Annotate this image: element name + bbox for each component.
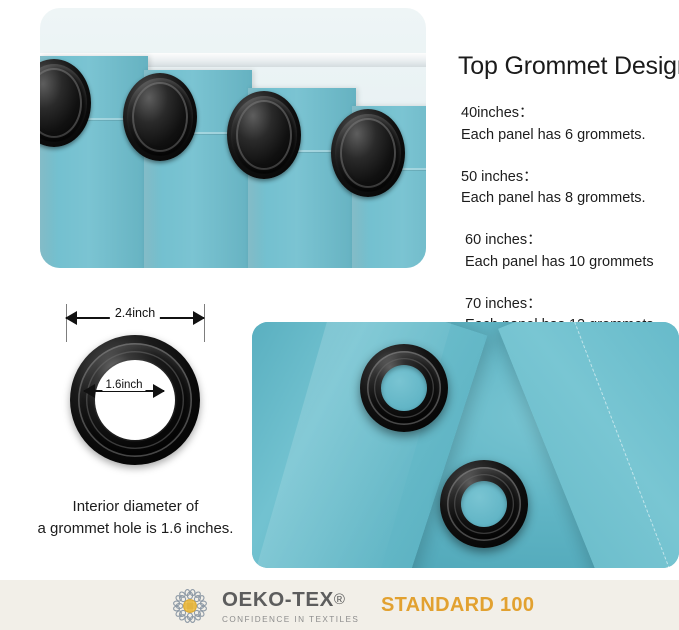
oeko-tex-brand: OEKO-TEX® [222, 590, 359, 611]
grommet-caption: Interior diameter of a grommet hole is 1… [28, 496, 243, 540]
spec-size-label: 40inches： [461, 103, 679, 125]
oeko-tex-wordmark: OEKO-TEX® CONFIDENCE IN TEXTILES [222, 590, 359, 624]
spec-count-label: Each panel has 8 grommets. [461, 188, 679, 210]
arrow-left-icon [65, 311, 77, 325]
product-infographic: Top Grommet Design 40inches： Each panel … [0, 0, 679, 630]
grommet-dimension-diagram: 2.4inch 1.6inch Interior diameter of a g… [28, 300, 228, 500]
inner-diameter-label: 1.6inch [102, 379, 145, 391]
spec-count-label: Each panel has 10 grommets [465, 252, 679, 274]
arrow-right-icon [193, 311, 205, 325]
spec-size-label: 50 inches： [461, 167, 679, 189]
fabric-closeup-photo [252, 322, 679, 568]
spec-60inch: 60 inches： Each panel has 10 grommets [465, 230, 679, 274]
caption-line-1: Interior diameter of [28, 496, 243, 518]
arrow-right-icon [153, 384, 165, 398]
page-title: Top Grommet Design [458, 52, 679, 81]
grommet-closeup [360, 344, 448, 432]
spec-50inch: 50 inches： Each panel has 8 grommets. [461, 167, 679, 211]
grommet-closeup [440, 460, 528, 548]
inner-diameter-dimension: 1.6inch [84, 381, 164, 399]
oeko-tex-tagline: CONFIDENCE IN TEXTILES [222, 615, 359, 624]
caption-line-2: a grommet hole is 1.6 inches. [28, 518, 243, 540]
grommet-spec-text: Top Grommet Design 40inches： Each panel … [461, 52, 679, 357]
spec-40inch: 40inches： Each panel has 6 grommets. [461, 103, 679, 147]
arrow-left-icon [83, 384, 95, 398]
oeko-tex-flower-icon [172, 588, 208, 624]
outer-diameter-dimension: 2.4inch [66, 308, 204, 328]
spec-size-label: 70 inches： [465, 294, 679, 316]
outer-diameter-label: 2.4inch [110, 306, 160, 320]
curtain-panels-photo [40, 8, 426, 268]
registered-trademark-icon: ® [334, 591, 346, 608]
oeko-tex-brand-text: OEKO-TEX [222, 588, 334, 611]
grommet-ring-illustration: 1.6inch [70, 335, 200, 465]
spec-count-label: Each panel has 6 grommets. [461, 125, 679, 147]
standard-100-label: STANDARD 100 [381, 594, 534, 617]
spec-size-label: 60 inches： [465, 230, 679, 252]
